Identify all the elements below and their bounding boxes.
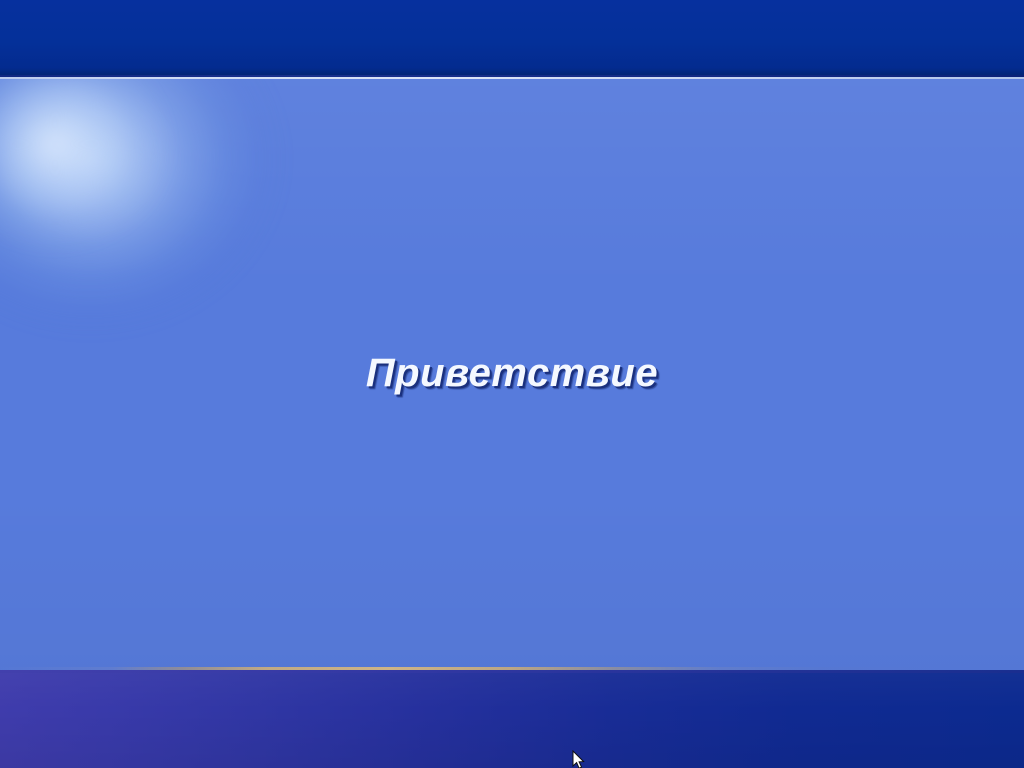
slide-title-container: Приветствие <box>0 79 1024 396</box>
panel-glow-light <box>0 79 290 339</box>
panel-shading-overlay <box>0 79 1024 670</box>
panel-glow-highlight <box>0 79 170 249</box>
slide-header-band <box>0 0 1024 77</box>
slide-title: Приветствие <box>366 350 658 396</box>
presentation-slide: Приветствие <box>0 0 1024 768</box>
slide-body-panel: Приветствие <box>0 79 1024 670</box>
slide-footer-band <box>0 670 1024 768</box>
footer-shading-overlay <box>0 670 1024 768</box>
